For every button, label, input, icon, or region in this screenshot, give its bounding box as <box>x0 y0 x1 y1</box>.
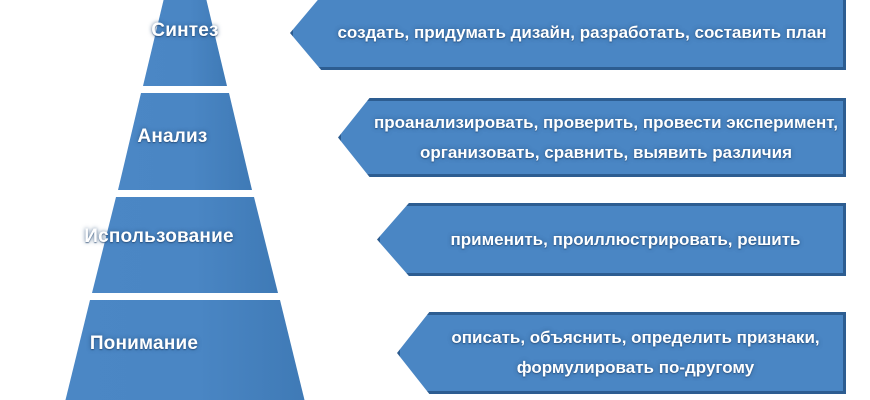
pyramid-tier-application[interactable] <box>92 197 278 293</box>
callout-line: применить, проиллюстрировать, решить <box>451 225 801 255</box>
callout-arrow-comprehension[interactable]: описать, объяснить, определить признаки,… <box>397 312 846 394</box>
callout-line: создать, придумать дизайн, разработать, … <box>337 18 826 48</box>
tier-divider <box>116 190 254 197</box>
callout-line: описать, объяснить, определить признаки, <box>451 323 819 353</box>
pyramid-tier-synthesis[interactable] <box>143 0 227 86</box>
callout-line: организовать, сравнить, выявить различия <box>374 138 838 168</box>
callout-line: проанализировать, проверить, провести эк… <box>374 108 838 138</box>
pyramid-tier-analysis[interactable] <box>118 93 252 190</box>
tier-divider <box>90 293 280 300</box>
callout-arrow-synthesis[interactable]: создать, придумать дизайн, разработать, … <box>290 0 846 70</box>
pyramid-tier-comprehension[interactable] <box>65 300 305 400</box>
diagram-canvas: Синтез Анализ Использование Понимание со… <box>0 0 870 400</box>
callout-line: формулировать по-другому <box>451 353 819 383</box>
callout-arrow-application[interactable]: применить, проиллюстрировать, решить <box>377 203 846 276</box>
callout-arrow-analysis[interactable]: проанализировать, проверить, провести эк… <box>338 98 846 177</box>
tier-divider <box>141 86 229 93</box>
